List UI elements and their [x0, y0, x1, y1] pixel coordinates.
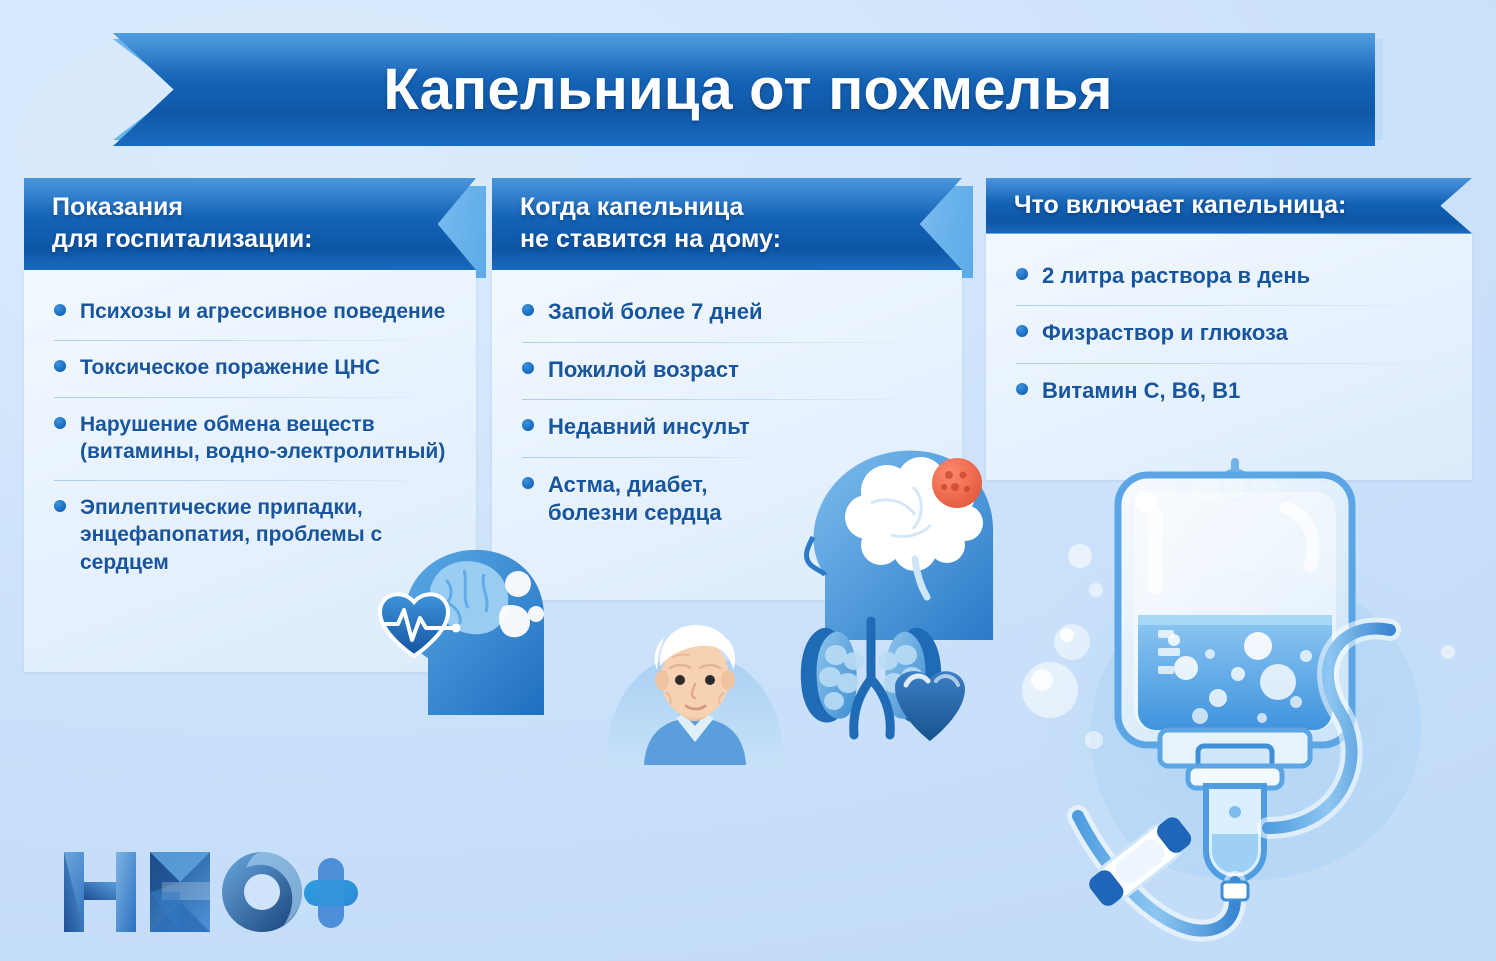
list-item-label: Физраствор и глюкоза [1042, 320, 1288, 345]
bullet-dot-icon [522, 304, 534, 316]
list-item-label: Запой более 7 дней [548, 299, 763, 324]
contents-list: 2 литра раствора в день Физраствор и глю… [1010, 248, 1448, 421]
bullet-dot-icon [522, 477, 534, 489]
infographic-canvas: Капельница от похмелья Показания для гос… [0, 0, 1496, 961]
bullet-dot-icon [1016, 383, 1028, 395]
list-item-label: Токсическое поражение ЦНС [80, 356, 380, 379]
bullet-dot-icon [1016, 325, 1028, 337]
list-item: Пожилой возраст [516, 342, 938, 400]
brand-logo [58, 836, 358, 946]
list-item-label: Астма, диабет, болезни сердца [548, 472, 722, 526]
bullet-dot-icon [54, 360, 66, 372]
list-item: Запой более 7 дней [516, 284, 938, 342]
list-item: 2 литра раствора в день [1010, 248, 1448, 306]
list-item-label: 2 литра раствора в день [1042, 263, 1310, 288]
list-item: Психозы и агрессивное поведение [48, 284, 452, 340]
bullet-dot-icon [522, 362, 534, 374]
list-item: Токсическое поражение ЦНС [48, 340, 452, 396]
list-item-label: Психозы и агрессивное поведение [80, 300, 445, 323]
list-item: Астма, диабет, болезни сердца [516, 457, 792, 543]
list-item-label: Витамин С, В6, В1 [1042, 378, 1240, 403]
column-a-header: Показания для госпитализации: [24, 178, 476, 270]
column-b-header-line1: Когда капельница [520, 192, 936, 224]
elderly-man-avatar [600, 600, 790, 765]
page-title: Капельница от похмелья [0, 33, 1496, 146]
column-c-header: Что включает капельница: [986, 178, 1472, 234]
list-item-label: Пожилой возраст [548, 357, 739, 382]
head-stroke-brain-icon [795, 425, 1010, 640]
column-b-header: Когда капельница не ставится на дому: [492, 178, 962, 270]
head-brain-heartbeat-icon [368, 540, 578, 715]
bullet-dot-icon [54, 304, 66, 316]
bullet-dot-icon [54, 417, 66, 429]
bullet-dot-icon [54, 500, 66, 512]
column-c-header-line1: Что включает капельница: [1014, 190, 1446, 222]
list-item-label: Эпилептические припадки, энцефапопатия, … [80, 496, 382, 574]
title-banner: Капельница от похмелья [0, 33, 1496, 146]
iv-drip-bag-illustration [1010, 430, 1490, 950]
list-item: Физраствор и глюкоза [1010, 305, 1448, 363]
bullet-dot-icon [1016, 268, 1028, 280]
list-item: Витамин С, В6, В1 [1010, 363, 1448, 421]
column-b-header-line2: не ставится на дому: [520, 224, 936, 256]
lungs-heart-icon [790, 615, 975, 765]
list-item-label: Нарушение обмена веществ (витамины, водн… [80, 413, 445, 463]
list-item-label: Недавний инсульт [548, 414, 750, 439]
bullet-dot-icon [522, 419, 534, 431]
column-a-header-line2: для госпитализации: [52, 224, 450, 256]
column-a-header-line1: Показания [52, 192, 450, 224]
list-item: Нарушение обмена веществ (витамины, водн… [48, 397, 452, 481]
